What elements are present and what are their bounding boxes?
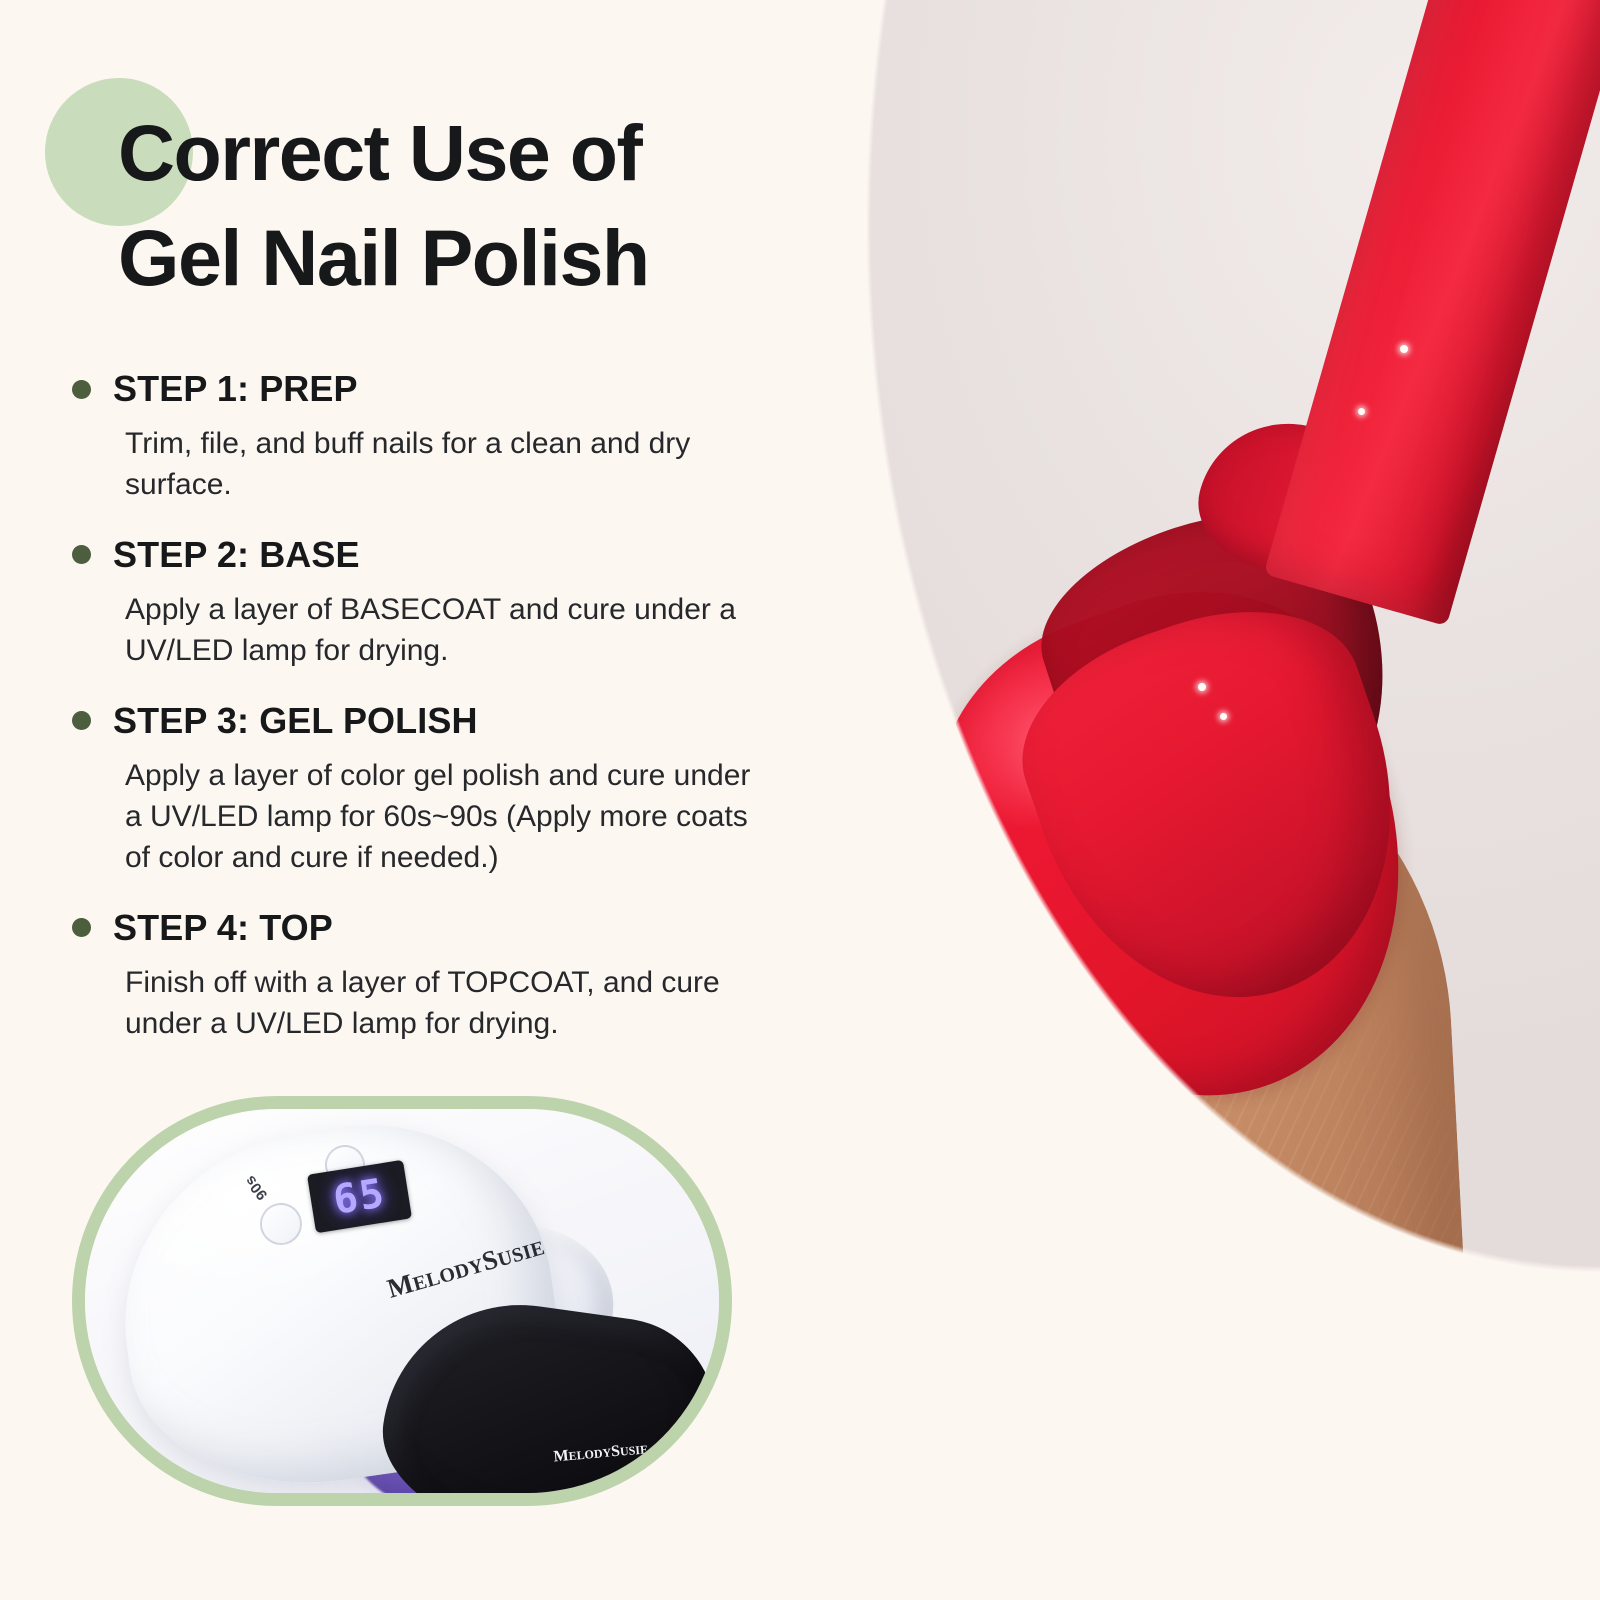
step-4-title: STEP 4: TOP (113, 907, 333, 949)
step-item-4: STEP 4: TOP Finish off with a layer of T… (72, 907, 772, 1045)
step-item-1: STEP 1: PREP Trim, file, and buff nails … (72, 368, 772, 506)
step-3-title: STEP 3: GEL POLISH (113, 700, 478, 742)
glove-brand-m: M (553, 1447, 570, 1465)
step-4-body: Finish off with a layer of TOPCOAT, and … (125, 962, 765, 1045)
nail-sparkle-1 (1038, 1030, 1047, 1039)
step-3-header: STEP 3: GEL POLISH (72, 700, 772, 742)
step-1-title: STEP 1: PREP (113, 368, 358, 410)
step-item-3: STEP 3: GEL POLISH Apply a layer of colo… (72, 700, 772, 879)
step-1-header: STEP 1: PREP (72, 368, 772, 410)
step-4-header: STEP 4: TOP (72, 907, 772, 949)
product-photo-panel (760, 0, 1600, 1600)
uv-lamp-scene: 90s 65 MELODYSUSIE MELODYSUSIE (85, 1109, 719, 1493)
glove-brand-usie: USIE (619, 1442, 648, 1458)
glove-brand-elody: ELODY (568, 1445, 612, 1463)
brush-sparkle-1 (1400, 345, 1408, 353)
step-2-body: Apply a layer of BASECOAT and cure under… (125, 589, 765, 672)
steps-list: STEP 1: PREP Trim, file, and buff nails … (72, 368, 772, 1045)
bullet-icon (72, 545, 91, 564)
step-1-body: Trim, file, and buff nails for a clean a… (125, 423, 765, 506)
brush-sparkle-3 (1198, 683, 1206, 691)
page-title: Correct Use of Gel Nail Polish (118, 100, 798, 310)
photo-backdrop-mask (760, 0, 1600, 1600)
step-item-2: STEP 2: BASE Apply a layer of BASECOAT a… (72, 534, 772, 672)
step-2-title: STEP 2: BASE (113, 534, 360, 576)
page-title-line-1: Correct Use of (118, 100, 798, 205)
step-3-body: Apply a layer of color gel polish and cu… (125, 755, 765, 879)
lamp-countdown-value: 65 (330, 1170, 389, 1224)
bullet-icon (72, 380, 91, 399)
bullet-icon (72, 918, 91, 937)
glove-brand-logo: MELODYSUSIE (553, 1440, 649, 1466)
step-2-header: STEP 2: BASE (72, 534, 772, 576)
brush-sparkle-4 (1220, 713, 1227, 720)
page-title-line-2: Gel Nail Polish (118, 205, 798, 310)
brush-sparkle-2 (1358, 408, 1365, 415)
uv-lamp-photo-card: 90s 65 MELODYSUSIE MELODYSUSIE (72, 1096, 732, 1506)
bullet-icon (72, 711, 91, 730)
